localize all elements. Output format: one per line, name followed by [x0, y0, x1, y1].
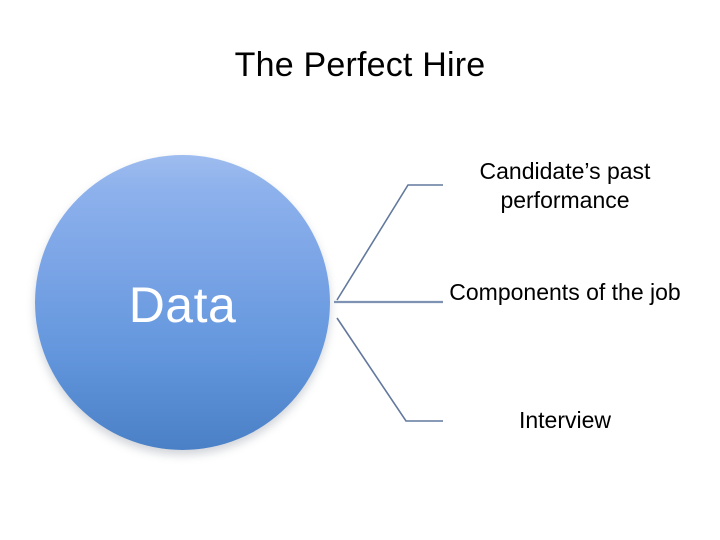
- branch-label-components-of-the-job[interactable]: Components of the job: [435, 278, 695, 307]
- connector-line-interview: [337, 318, 443, 421]
- connector-line-candidates-past-performance: [337, 185, 443, 300]
- branch-label-interview[interactable]: Interview: [435, 406, 695, 435]
- connector-lines-group: [0, 0, 720, 540]
- branch-label-candidates-past-performance[interactable]: Candidate’s past performance: [435, 157, 695, 215]
- slide-canvas: The Perfect Hire Data Candidate’s past p…: [0, 0, 720, 540]
